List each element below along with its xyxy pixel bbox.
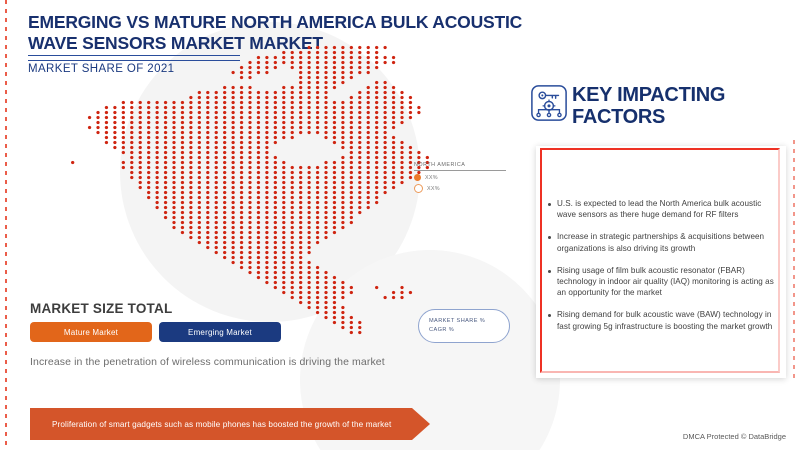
bullet-dot-icon xyxy=(548,270,551,273)
cagr-line-2: CAGR % xyxy=(429,326,509,335)
market-size-heading: MARKET SIZE TOTAL xyxy=(30,301,172,316)
market-segment-pills: Mature Market Emerging Market xyxy=(30,322,281,342)
list-item: Rising demand for bulk acoustic wave (BA… xyxy=(548,309,776,331)
bullet-text: U.S. is expected to lead the North Ameri… xyxy=(557,198,776,220)
bottom-banner: Proliferation of smart gadgets such as m… xyxy=(30,408,430,440)
list-item: Increase in strategic partnerships & acq… xyxy=(548,231,776,253)
legend-value: XX% xyxy=(427,186,440,192)
bullet-dot-icon xyxy=(548,236,551,239)
slide-canvas: EMERGING VS MATURE NORTH AMERICA BULK AC… xyxy=(0,0,800,450)
legend-marker-filled-icon xyxy=(414,174,421,181)
legend-value: XX% xyxy=(425,175,438,181)
legend-marker-hollow-icon xyxy=(414,184,423,193)
pill-emerging-market[interactable]: Emerging Market xyxy=(159,322,281,342)
market-share-cagr-badge: MARKET SHARE % CAGR % xyxy=(418,309,510,343)
map-legend: NORTH AMERICA XX% XX% xyxy=(414,162,506,193)
bullet-text: Rising usage of film bulk acoustic reson… xyxy=(557,265,776,299)
list-item: Rising usage of film bulk acoustic reson… xyxy=(548,265,776,299)
key-factors-title-line2: FACTORS xyxy=(572,106,725,128)
key-gear-network-icon xyxy=(530,84,568,122)
bullet-text: Rising demand for bulk acoustic wave (BA… xyxy=(557,309,776,331)
legend-title: NORTH AMERICA xyxy=(414,162,506,171)
footer-attribution: DMCA Protected © DataBridge xyxy=(683,432,786,441)
legend-row: XX% xyxy=(414,184,506,193)
bullet-text: Increase in strategic partnerships & acq… xyxy=(557,231,776,253)
left-dotted-rail xyxy=(5,0,7,450)
cagr-line-1: MARKET SHARE % xyxy=(429,317,509,326)
legend-row: XX% xyxy=(414,174,506,181)
pill-mature-market[interactable]: Mature Market xyxy=(30,322,152,342)
key-factors-bullet-list: U.S. is expected to lead the North Ameri… xyxy=(548,198,776,343)
lead-statement: Increase in the penetration of wireless … xyxy=(30,356,385,368)
bullet-dot-icon xyxy=(548,314,551,317)
key-factors-title-line1: KEY IMPACTING xyxy=(572,84,725,106)
north-america-dot-map xyxy=(60,45,440,335)
list-item: U.S. is expected to lead the North Ameri… xyxy=(548,198,776,220)
bullet-dot-icon xyxy=(548,203,551,206)
key-factors-title: KEY IMPACTING FACTORS xyxy=(572,84,725,128)
right-dotted-rail xyxy=(793,140,795,382)
